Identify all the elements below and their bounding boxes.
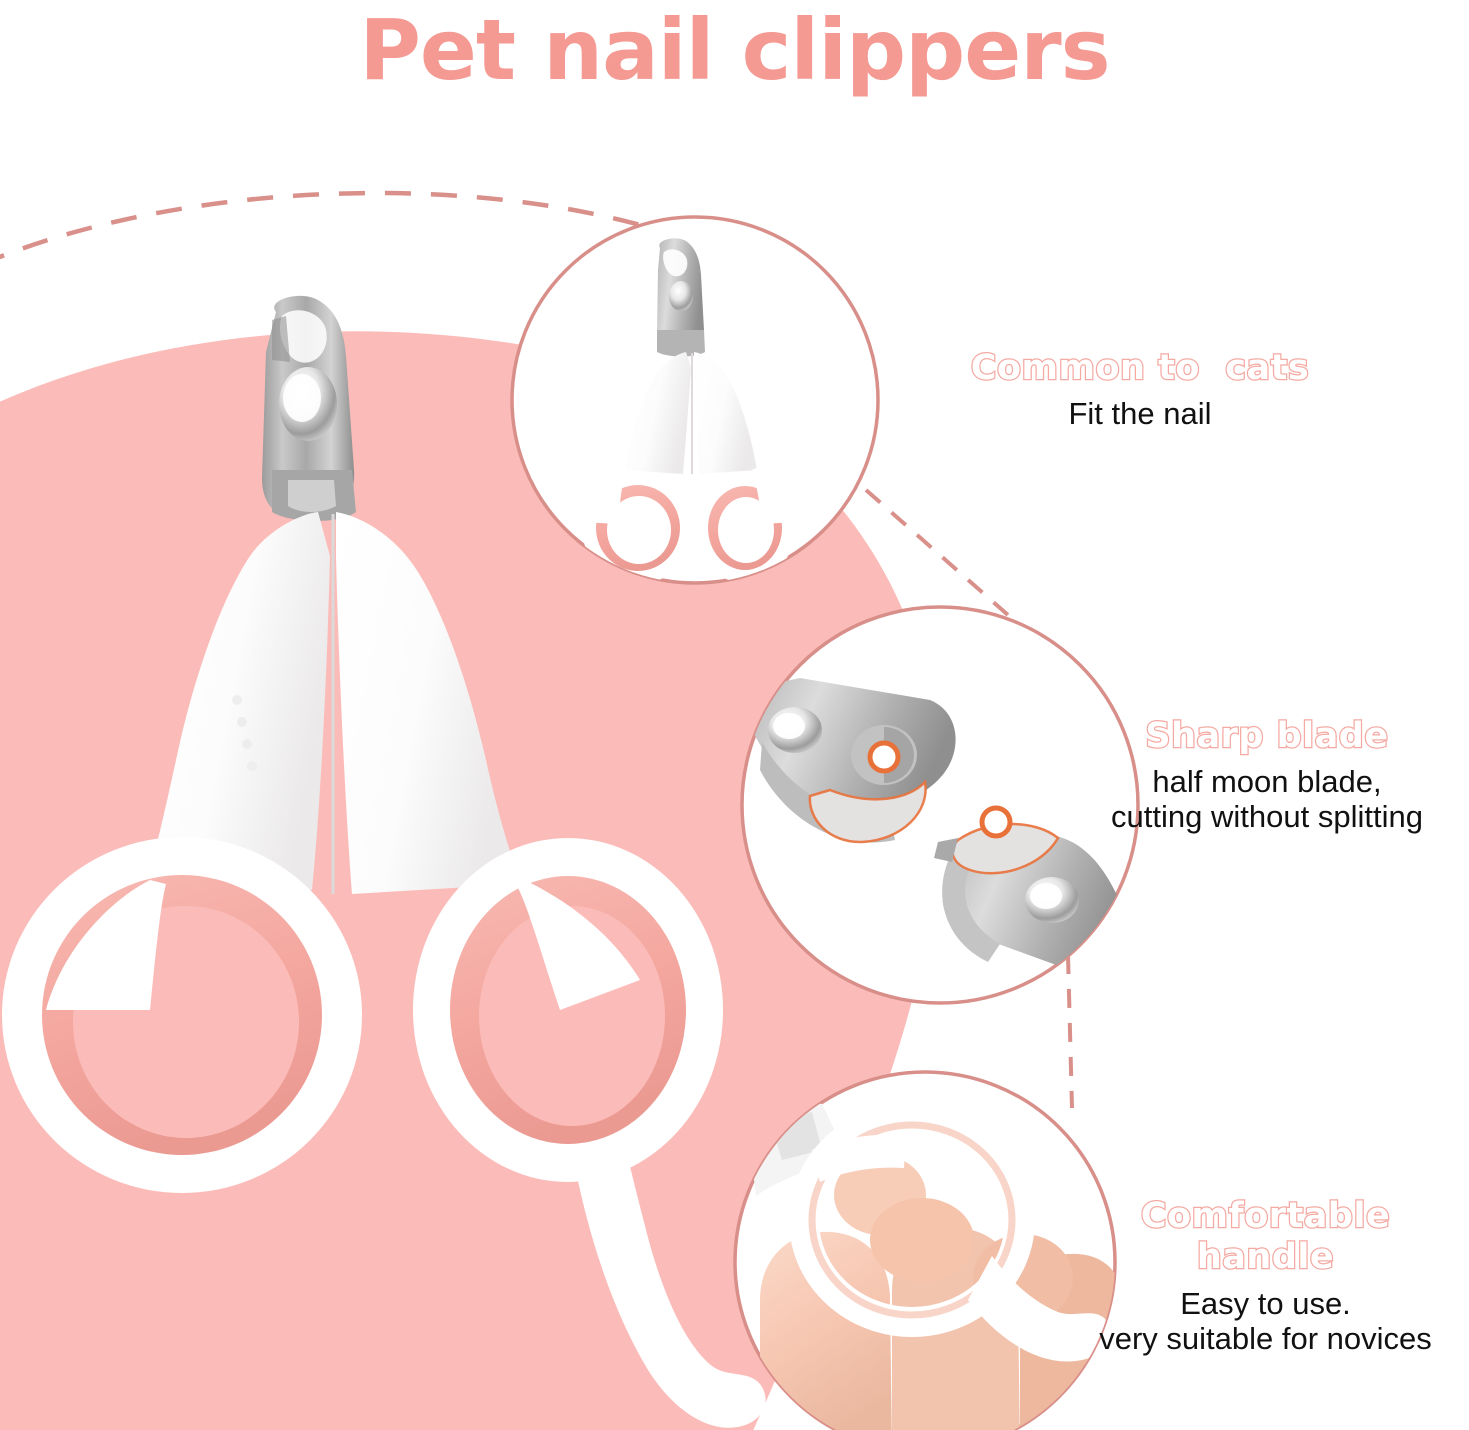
page-title: Pet nail clippers bbox=[0, 6, 1469, 94]
callout-body-common-to-cats: Fit the nail bbox=[905, 396, 1375, 431]
callout-title-sharp-blade: Sharp blade bbox=[1065, 716, 1469, 757]
callout-body-sharp-blade: half moon blade, cutting without splitti… bbox=[1065, 764, 1469, 834]
hero-handle-loop-left bbox=[2, 837, 362, 1193]
decorative-dashed-arc bbox=[0, 193, 720, 265]
callout-text-common-to-cats: Common to cats Fit the nail bbox=[905, 348, 1375, 431]
infographic-page: Pet nail clippers bbox=[0, 0, 1469, 1430]
callout-text-comfortable-handle: Comfortable handle Easy to use. very sui… bbox=[1062, 1196, 1469, 1356]
callout-title-common-to-cats: Common to cats bbox=[905, 348, 1375, 389]
callout-body-comfortable-handle: Easy to use. very suitable for novices bbox=[1062, 1286, 1469, 1356]
callout-title-comfortable-handle: Comfortable handle bbox=[1062, 1196, 1469, 1279]
hero-handle-loop-right bbox=[413, 838, 723, 1182]
callout-text-sharp-blade: Sharp blade half moon blade, cutting wit… bbox=[1065, 716, 1469, 834]
